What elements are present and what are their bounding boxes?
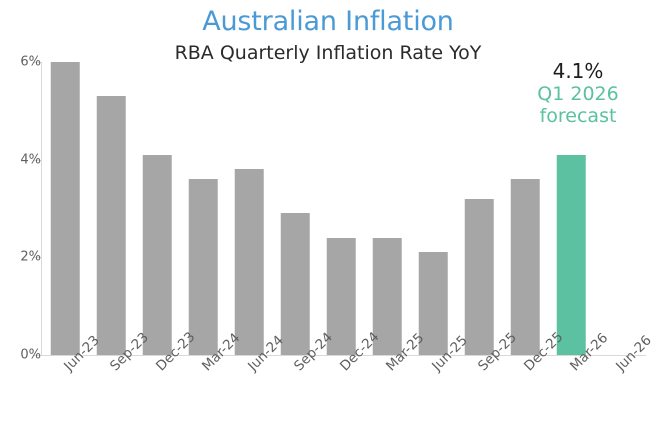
y-axis-tick-label: 6% <box>9 55 41 70</box>
bar-actual[interactable] <box>465 199 494 355</box>
x-label-slot: Jun-23 <box>42 357 88 446</box>
x-label-slot: Sep-23 <box>88 357 134 446</box>
inflation-bar-chart: Australian Inflation RBA Quarterly Infla… <box>0 0 656 446</box>
x-label-slot: Jun-25 <box>410 357 456 446</box>
x-label-slot: Mar-24 <box>180 357 226 446</box>
forecast-note-line-2: forecast <box>508 106 648 128</box>
bar-slot <box>88 62 134 355</box>
forecast-annotation: 4.1% Q1 2026 forecast <box>508 60 648 128</box>
y-axis-tick-label: 2% <box>9 250 41 265</box>
bar-slot <box>42 62 88 355</box>
bar-actual[interactable] <box>97 96 126 355</box>
bar-slot <box>180 62 226 355</box>
x-label-slot: Mar-26 <box>548 357 594 446</box>
bar-actual[interactable] <box>189 179 218 355</box>
y-axis-tick-label: 4% <box>9 152 41 167</box>
bar-forecast[interactable] <box>557 155 586 355</box>
forecast-value-label: 4.1% <box>508 60 648 83</box>
x-label-slot: Sep-24 <box>272 357 318 446</box>
bar-slot <box>456 62 502 355</box>
bar-actual[interactable] <box>143 155 172 355</box>
bar-slot <box>272 62 318 355</box>
bar-actual[interactable] <box>281 213 310 355</box>
x-axis-labels: Jun-23Sep-23Dec-23Mar-24Jun-24Sep-24Dec-… <box>42 357 640 446</box>
bar-actual[interactable] <box>51 62 80 355</box>
chart-title: Australian Inflation <box>0 6 656 37</box>
x-label-slot: Dec-23 <box>134 357 180 446</box>
x-label-slot: Dec-25 <box>502 357 548 446</box>
bar-actual[interactable] <box>235 169 264 355</box>
x-label-slot: Jun-24 <box>226 357 272 446</box>
x-label-slot: Mar-25 <box>364 357 410 446</box>
bar-actual[interactable] <box>511 179 540 355</box>
bar-slot <box>226 62 272 355</box>
bar-slot <box>364 62 410 355</box>
bar-slot <box>410 62 456 355</box>
x-label-slot: Jun-26 <box>594 357 640 446</box>
bar-slot <box>318 62 364 355</box>
bar-slot <box>134 62 180 355</box>
x-label-slot: Sep-25 <box>456 357 502 446</box>
y-axis-tick-label: 0% <box>9 348 41 363</box>
x-label-slot: Dec-24 <box>318 357 364 446</box>
forecast-note-line-1: Q1 2026 <box>508 84 648 106</box>
